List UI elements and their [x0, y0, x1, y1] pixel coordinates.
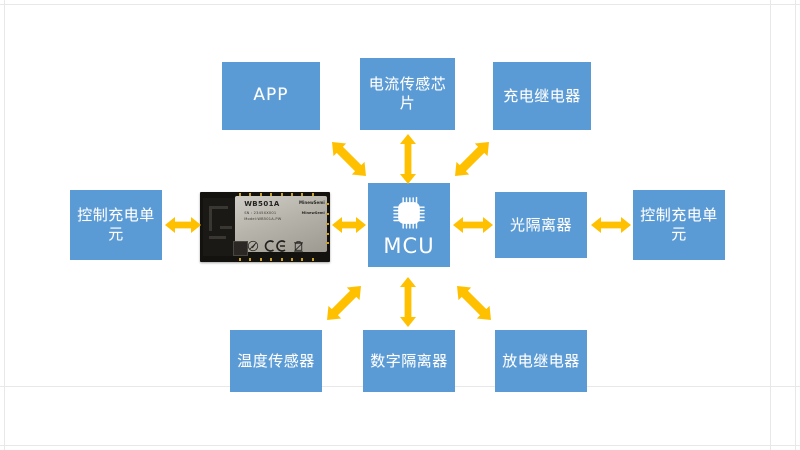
node-temperature-sensor-label: 温度传感器 [236, 352, 316, 371]
arrow-control-left-to-module [164, 213, 202, 237]
arrow-mcu-to-discharge-relay [448, 278, 500, 328]
node-opto-isolator-label: 光隔离器 [501, 216, 581, 235]
arrow-mcu-to-current-sensor-chip [396, 133, 420, 185]
node-opto-isolator[interactable]: 光隔离器 [495, 192, 587, 258]
microchip-icon [389, 193, 429, 233]
wb501a-module-image: WB501A SN : 2345XX001 Model:WB501A-PW Mi… [200, 192, 330, 262]
slide-frame-left [4, 0, 5, 450]
node-app-label: APP [228, 85, 314, 106]
node-control-charge-unit-left-label: 控制充电单元 [76, 206, 156, 244]
node-temperature-sensor[interactable]: 温度传感器 [230, 330, 322, 392]
slide-frame-right [795, 0, 796, 450]
node-digital-isolator[interactable]: 数字隔离器 [363, 330, 455, 392]
node-digital-isolator-label: 数字隔离器 [369, 352, 449, 371]
node-control-charge-unit-left[interactable]: 控制充电单元 [70, 190, 162, 260]
arrow-module-to-mcu [331, 213, 367, 237]
slide-frame-vdivider [770, 0, 771, 450]
node-current-sensor-chip[interactable]: 电流传感芯片 [360, 58, 455, 130]
arrow-mcu-to-charge-relay [446, 134, 498, 184]
node-charge-relay[interactable]: 充电继电器 [493, 62, 591, 130]
node-charge-relay-label: 充电继电器 [499, 87, 585, 106]
slide-frame-bottom [0, 445, 800, 446]
node-app[interactable]: APP [222, 62, 320, 130]
module-solder-pads [200, 192, 330, 262]
arrow-mcu-to-temperature-sensor [318, 278, 370, 328]
diagram-canvas: APP 电流传感芯片 充电继电器 控制充电单元 WB501A SN : 2345… [0, 0, 800, 450]
node-control-charge-unit-right[interactable]: 控制充电单元 [633, 190, 725, 260]
slide-frame-top [0, 4, 800, 5]
node-control-charge-unit-right-label: 控制充电单元 [639, 206, 719, 244]
node-mcu[interactable]: MCU [368, 183, 450, 267]
arrow-mcu-to-app [323, 134, 375, 184]
arrow-opto-isolator-to-control-right [590, 213, 632, 237]
arrow-mcu-to-digital-isolator [396, 276, 420, 328]
node-current-sensor-chip-label: 电流传感芯片 [366, 75, 449, 113]
node-mcu-label: MCU [383, 234, 434, 258]
arrow-mcu-to-opto-isolator [452, 213, 494, 237]
node-discharge-relay-label: 放电继电器 [501, 352, 581, 371]
node-discharge-relay[interactable]: 放电继电器 [495, 330, 587, 392]
